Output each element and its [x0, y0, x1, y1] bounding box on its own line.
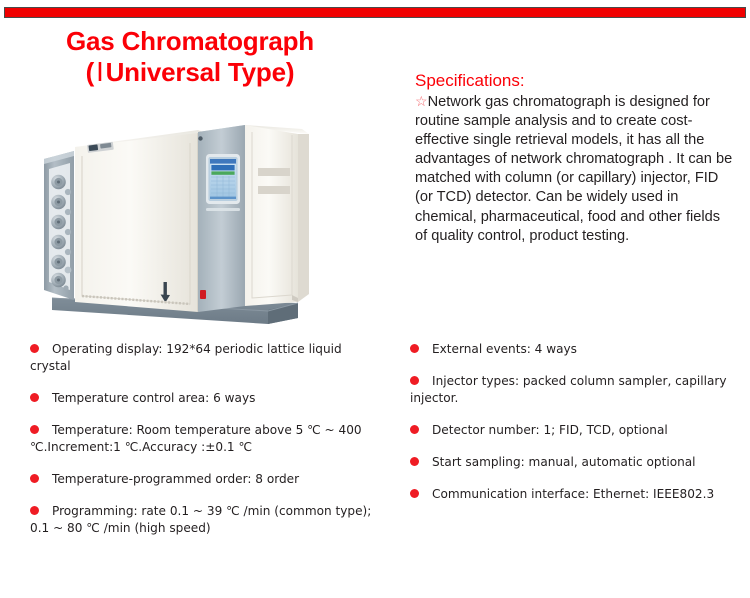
column-oven	[75, 130, 206, 312]
list-item-label: Temperature control area: 6 ways	[30, 390, 378, 407]
product-photo	[30, 112, 330, 327]
list-item: Start sampling: manual, automatic option…	[410, 454, 740, 471]
list-item: Temperature: Room temperature above 5 ℃ …	[30, 422, 378, 456]
list-item-label: Detector number: 1; FID, TCD, optional	[410, 422, 740, 439]
list-item-label: External events: 4 ways	[410, 341, 740, 358]
list-item-label: Temperature: Room temperature above 5 ℃ …	[30, 422, 378, 456]
spec-sheet-page: { "colors": { "accent_red": "#fb0007", "…	[0, 0, 750, 598]
bullet-icon	[410, 457, 419, 466]
control-column	[198, 125, 252, 312]
bullet-icon	[410, 425, 419, 434]
title-line-2-rest: Universal Type)	[106, 57, 295, 87]
specifications-heading: Specifications:	[415, 70, 735, 91]
bullet-icon	[30, 425, 39, 434]
header-rule	[4, 7, 746, 18]
bullet-icon	[410, 344, 419, 353]
list-item: Temperature-programmed order: 8 order	[30, 471, 378, 488]
title-line-2: (ⅠUniversal Type)	[0, 57, 380, 88]
page-title: Gas Chromatograph (ⅠUniversal Type)	[0, 26, 380, 88]
list-item-label: Communication interface: Ethernet: IEEE8…	[410, 486, 740, 503]
list-item: Injector types: packed column sampler, c…	[410, 373, 740, 407]
bullet-icon	[30, 393, 39, 402]
specifications-panel: Specifications: ☆Network gas chromatogra…	[415, 70, 735, 246]
specifications-paragraph: ☆Network gas chromatograph is designed f…	[415, 92, 735, 246]
bullet-icon	[30, 506, 39, 515]
star-icon: ☆	[415, 93, 428, 109]
list-item-label: Injector types: packed column sampler, c…	[410, 373, 740, 407]
bullet-icon	[410, 489, 419, 498]
list-item-label: Temperature-programmed order: 8 order	[30, 471, 378, 488]
bullet-icon	[30, 474, 39, 483]
lcd-display	[206, 154, 240, 204]
list-item: Temperature control area: 6 ways	[30, 390, 378, 407]
list-item: Operating display: 192*64 periodic latti…	[30, 341, 378, 375]
list-item-label: Operating display: 192*64 periodic latti…	[30, 341, 378, 375]
list-item: Programming: rate 0.1 ~ 39 ℃ /min (commo…	[30, 503, 378, 537]
detector-module	[245, 125, 309, 306]
list-item-label: Programming: rate 0.1 ~ 39 ℃ /min (commo…	[30, 503, 378, 537]
title-line-1: Gas Chromatograph	[0, 26, 380, 57]
list-item: Detector number: 1; FID, TCD, optional	[410, 422, 740, 439]
pneumatics-panel	[44, 151, 74, 300]
title-paren-open: (	[86, 57, 94, 87]
bullet-icon	[410, 376, 419, 385]
features-right-list: External events: 4 ways Injector types: …	[410, 341, 740, 503]
features-left-list: Operating display: 192*64 periodic latti…	[30, 341, 378, 537]
list-item: External events: 4 ways	[410, 341, 740, 358]
bullet-icon	[30, 344, 39, 353]
title-roman-numeral: Ⅰ	[94, 58, 105, 87]
specifications-text: Network gas chromatograph is designed fo…	[415, 94, 732, 244]
gas-chromatograph-illustration	[30, 112, 330, 327]
power-indicator	[200, 290, 206, 299]
list-item-label: Start sampling: manual, automatic option…	[410, 454, 740, 471]
list-item: Communication interface: Ethernet: IEEE8…	[410, 486, 740, 503]
